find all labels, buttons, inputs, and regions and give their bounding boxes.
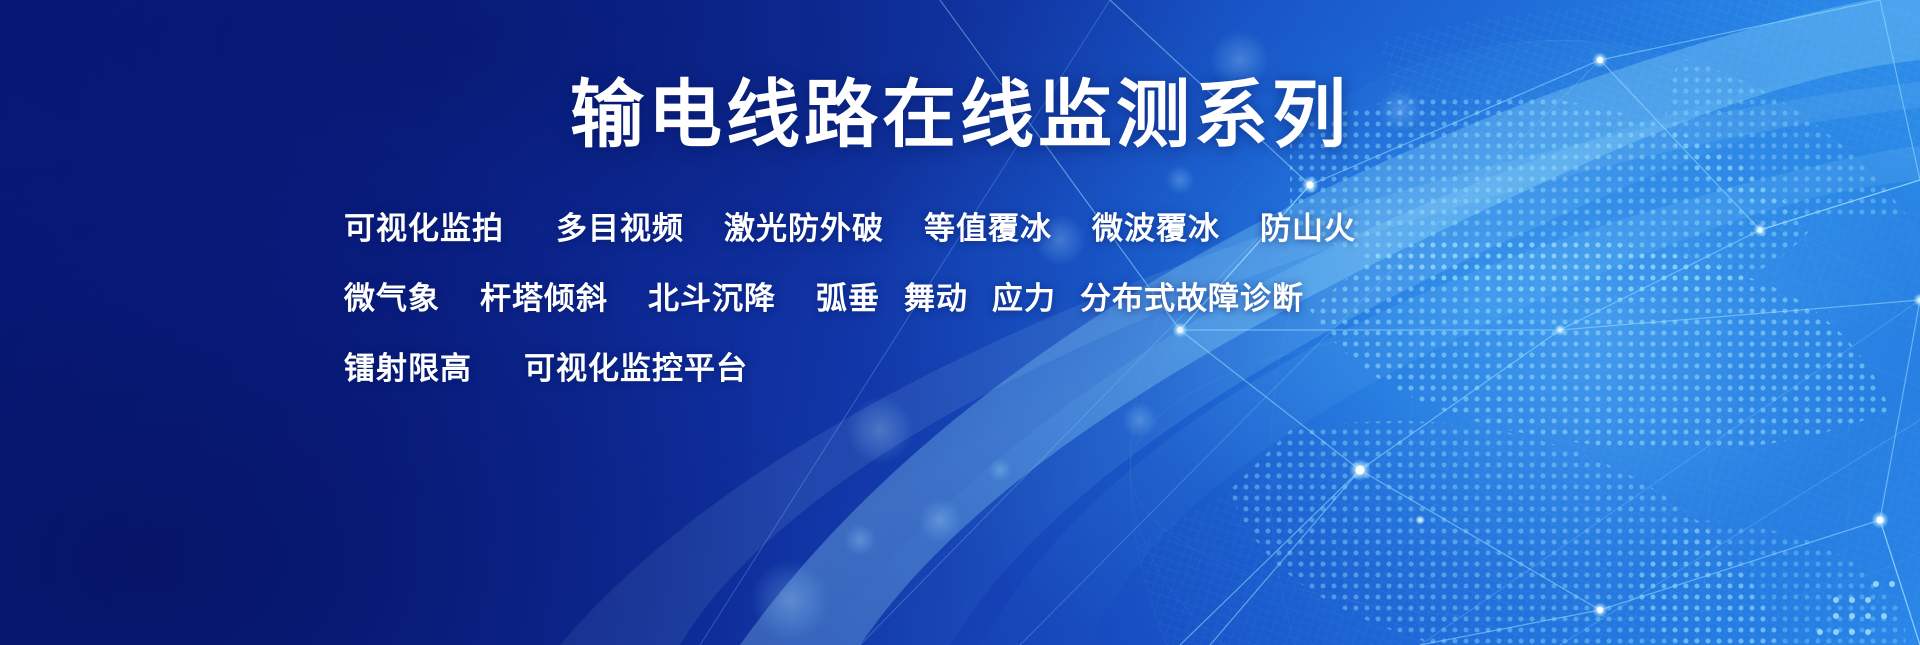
tag-row-3: 镭射限高可视化监控平台 <box>344 353 1604 384</box>
tag-row-1: 可视化监拍多目视频激光防外破等值覆冰微波覆冰防山火 <box>344 213 1604 244</box>
tag-row-2: 微气象杆塔倾斜北斗沉降弧垂舞动应力分布式故障诊断 <box>344 283 1604 314</box>
product-banner: 输电线路在线监测系列 可视化监拍多目视频激光防外破等值覆冰微波覆冰防山火 微气象… <box>0 0 1920 645</box>
product-tag[interactable]: 弧垂 <box>816 283 880 314</box>
product-tag[interactable]: 镭射限高 <box>344 353 472 384</box>
product-tag[interactable]: 北斗沉降 <box>648 283 776 314</box>
page-title: 输电线路在线监测系列 <box>0 78 1920 152</box>
product-tag[interactable]: 可视化监拍 <box>344 213 504 244</box>
product-tag[interactable]: 可视化监控平台 <box>524 353 748 384</box>
product-tag[interactable]: 分布式故障诊断 <box>1080 283 1304 314</box>
product-tag[interactable]: 多目视频 <box>556 213 684 244</box>
product-tag[interactable]: 应力 <box>992 283 1056 314</box>
banner-content: 输电线路在线监测系列 可视化监拍多目视频激光防外破等值覆冰微波覆冰防山火 微气象… <box>0 0 1920 645</box>
product-tag[interactable]: 舞动 <box>904 283 968 314</box>
product-tag[interactable]: 防山火 <box>1260 213 1356 244</box>
product-tag[interactable]: 微气象 <box>344 283 440 314</box>
product-tag[interactable]: 微波覆冰 <box>1092 213 1220 244</box>
product-tag[interactable]: 激光防外破 <box>724 213 884 244</box>
product-tag[interactable]: 杆塔倾斜 <box>480 283 608 314</box>
product-tag[interactable]: 等值覆冰 <box>924 213 1052 244</box>
